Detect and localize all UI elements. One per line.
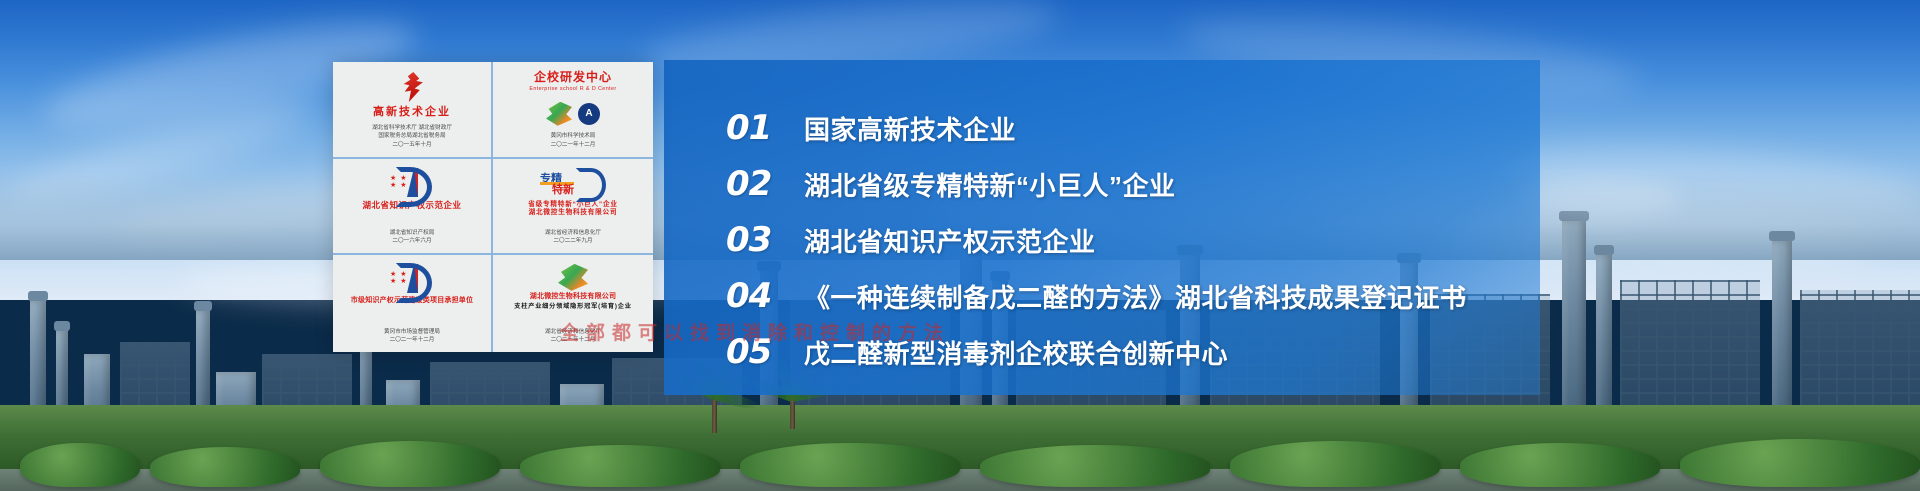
- honor-index: 01: [726, 108, 782, 148]
- hedge-shrub: [520, 445, 720, 487]
- certificate-grid: 高新技术企业 湖北省科学技术厅 湖北省财政厅 国家税务总局湖北省税务局 二〇一五…: [333, 62, 653, 352]
- certificate-title: 高新技术企业: [373, 106, 451, 119]
- certificate-title: 企校研发中心: [534, 68, 612, 85]
- honor-index: 03: [726, 220, 782, 260]
- certificate-issuer: 湖北省经济和信息化厅 二〇二一年十二月: [545, 328, 601, 348]
- hedge-shrub: [1680, 439, 1920, 487]
- certificate-card[interactable]: 企校研发中心 Enterprise school R & D Center A …: [493, 62, 653, 159]
- partner-emblems: A: [546, 95, 600, 132]
- honors-list: 01 国家高新技术企业 02 湖北省级专精特新“小巨人”企业 03 湖北省知识产…: [726, 100, 1530, 375]
- hedge-shrub: [740, 443, 960, 487]
- honor-index: 05: [726, 332, 782, 372]
- hedge-shrub: [1230, 441, 1440, 487]
- hedge-shrub: [150, 447, 300, 487]
- certificate-issuer: 湖北省知识产权局 二〇一六年六月: [390, 229, 435, 249]
- certificate-issuer: 黄冈市科学技术局 二〇二一年十二月: [551, 132, 596, 152]
- honor-label: 国家高新技术企业: [804, 110, 1016, 147]
- hedge-shrub: [20, 443, 140, 487]
- hedge-shrub: [320, 441, 500, 487]
- certificate-issuer: 湖北省经济和信息化厅 二〇二二年九月: [545, 229, 601, 249]
- certificate-card[interactable]: ★ ★★ ★ 湖北省知识产权示范企业 湖北省知识产权局 二〇一六年六月: [333, 159, 493, 256]
- honor-item[interactable]: 04 《一种连续制备戊二醛的方法》湖北省科技成果登记证书: [726, 268, 1530, 324]
- honor-index: 04: [726, 276, 782, 316]
- certificate-card[interactable]: 专精 特新 省级专精特新“小巨人”企业 湖北微控生物科技有限公司 湖北省经济和信…: [493, 159, 653, 256]
- ground-greenery: [0, 405, 1920, 491]
- leaf-emblem: [558, 261, 588, 293]
- certificate-subtitle: 省级专精特新“小巨人”企业 湖北微控生物科技有限公司: [528, 201, 618, 218]
- honor-item[interactable]: 03 湖北省知识产权示范企业: [726, 212, 1530, 268]
- flame-emblem: [399, 68, 425, 106]
- certificate-title: 湖北微控生物科技有限公司: [530, 293, 616, 301]
- hedge-shrub: [980, 445, 1210, 487]
- ip-demonstration-emblem: ★ ★★ ★: [390, 261, 434, 297]
- certificate-card[interactable]: ★ ★★ ★ 市级知识产权示范建设类项目承担单位 黄冈市市场监督管理局 二〇二一…: [333, 255, 493, 352]
- university-seal-icon: A: [578, 103, 600, 125]
- certificate-card[interactable]: 湖北微控生物科技有限公司 支柱产业细分领域隐形冠军(培育)企业 湖北省经济和信息…: [493, 255, 653, 352]
- honor-item[interactable]: 02 湖北省级专精特新“小巨人”企业: [726, 156, 1530, 212]
- hero-banner: 高新技术企业 湖北省科学技术厅 湖北省财政厅 国家税务总局湖北省税务局 二〇一五…: [0, 0, 1920, 491]
- honor-label: 戊二醛新型消毒剂企校联合创新中心: [804, 334, 1228, 371]
- certificate-issuer: 黄冈市市场监督管理局 二〇二一年十二月: [384, 328, 440, 348]
- specialized-new-emblem: 专精 特新: [540, 165, 606, 199]
- certificate-card[interactable]: 高新技术企业 湖北省科学技术厅 湖北省财政厅 国家税务总局湖北省税务局 二〇一五…: [333, 62, 493, 159]
- hedge-shrub: [1460, 443, 1660, 487]
- ip-demonstration-emblem: ★ ★★ ★: [390, 165, 434, 201]
- honor-label: 《一种连续制备戊二醛的方法》湖北省科技成果登记证书: [804, 278, 1467, 315]
- certificate-title-en: Enterprise school R & D Center: [529, 86, 616, 92]
- honors-panel: 01 国家高新技术企业 02 湖北省级专精特新“小巨人”企业 03 湖北省知识产…: [664, 60, 1540, 395]
- honor-label: 湖北省知识产权示范企业: [804, 222, 1096, 259]
- honor-item[interactable]: 01 国家高新技术企业: [726, 100, 1530, 156]
- certificate-issuer: 湖北省科学技术厅 湖北省财政厅 国家税务总局湖北省税务局 二〇一五年十月: [372, 124, 452, 152]
- leaf-emblem: [546, 102, 572, 126]
- certificate-subtitle: 支柱产业细分领域隐形冠军(培育)企业: [514, 303, 632, 311]
- steam-plume: [1520, 178, 1680, 218]
- honor-label: 湖北省级专精特新“小巨人”企业: [804, 166, 1176, 203]
- honor-item[interactable]: 05 戊二醛新型消毒剂企校联合创新中心: [726, 324, 1530, 380]
- honor-index: 02: [726, 164, 782, 204]
